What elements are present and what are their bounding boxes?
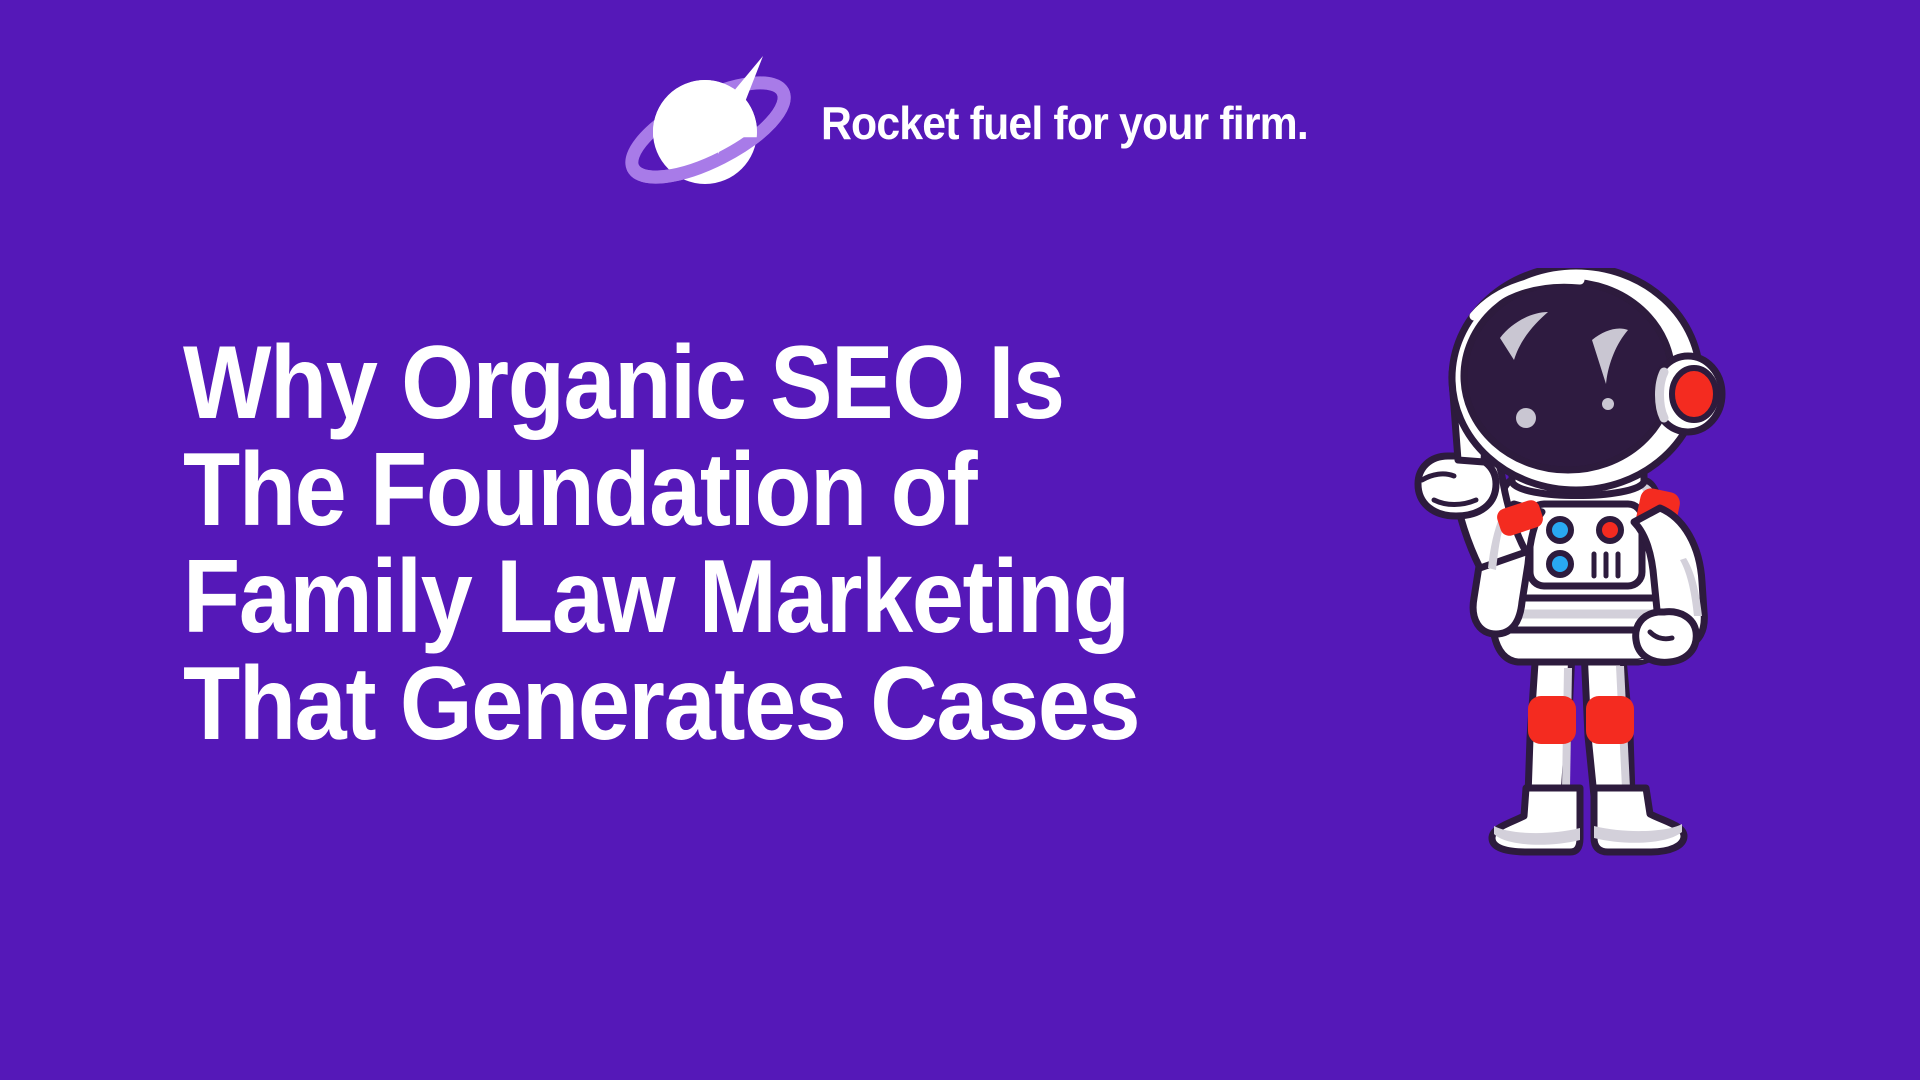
brand-lockup[interactable]: Rocket fuel for your firm. [617,50,1345,202]
banner-root: Rocket fuel for your firm. Why Organic S… [0,0,1920,1080]
headline-line-1: Why Organic SEO Is [183,330,1263,437]
planet-rocket-icon [617,50,799,202]
headline-line-2: The Foundation of [183,437,1263,544]
page-title: Why Organic SEO Is The Foundation of Fam… [183,330,1383,758]
brand-tagline: Rocket fuel for your firm. [821,100,1308,152]
headline-line-3: Family Law Marketing [183,544,1263,651]
astronaut-pointing-up-illustration [1388,268,1748,868]
headline-line-4: That Generates Cases [183,651,1263,758]
